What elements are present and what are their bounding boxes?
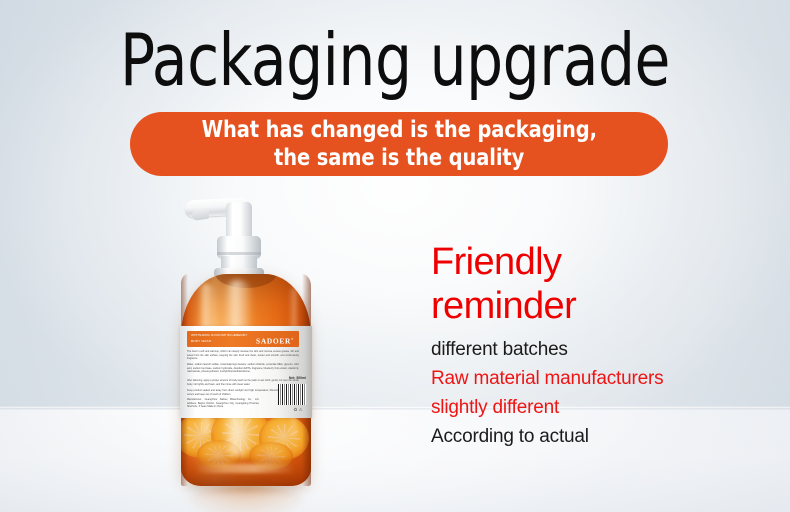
brand-logo: SADOER® xyxy=(256,335,294,345)
pump-collar-ridge xyxy=(217,252,261,255)
product-bottle: WHITENING NOURISH BLUEBERRY BODY WASH SA… xyxy=(176,196,316,496)
reminder-line-3: slightly different xyxy=(431,393,751,422)
reminder-line-4: According to actual xyxy=(431,422,751,451)
bottle-floor-reflection xyxy=(186,486,306,512)
pump-nozzle-tip xyxy=(192,208,209,221)
label-net-content: Net: 500ml xyxy=(289,376,306,380)
reminder-line-1: different batches xyxy=(431,335,751,364)
label-product-name: WHITENING NOURISH BLUEBERRY BODY WASH xyxy=(191,333,249,344)
reminder-line-2: Raw material manufacturers xyxy=(431,364,751,393)
reminder-title-line-1: Friendly xyxy=(431,240,751,284)
reminder-title-line-2: reminder xyxy=(431,284,751,328)
label-manufacturer-paragraph: Manufacturer: Guangzhou Sadoer Biotechno… xyxy=(187,398,259,409)
brand-trademark-mark: ® xyxy=(291,337,294,341)
tagline-banner: What has changed is the packaging, the s… xyxy=(130,112,668,176)
promo-banner-root: Packaging upgrade What has changed is th… xyxy=(0,0,790,512)
recycling-symbols-icon: ♻⚠ xyxy=(293,407,304,413)
label-orange-band: WHITENING NOURISH BLUEBERRY BODY WASH SA… xyxy=(187,331,299,347)
label-description-paragraph: The best in soft and warmup, which can d… xyxy=(187,350,299,361)
brand-name: SADOER xyxy=(256,336,291,345)
tagline-line-2: the same is the quality xyxy=(274,144,524,172)
label-ingredients-paragraph: Water, sodium laureth sulfate, cocamidop… xyxy=(187,363,299,374)
product-label: WHITENING NOURISH BLUEBERRY BODY WASH SA… xyxy=(180,326,312,418)
bottle-base-gloss xyxy=(195,464,295,473)
tagline-line-1: What has changed is the packaging, xyxy=(201,116,596,144)
barcode-icon xyxy=(278,384,306,405)
page-title: Packaging upgrade xyxy=(40,18,751,102)
friendly-reminder-block: Friendly reminder different batches Raw … xyxy=(431,240,751,451)
